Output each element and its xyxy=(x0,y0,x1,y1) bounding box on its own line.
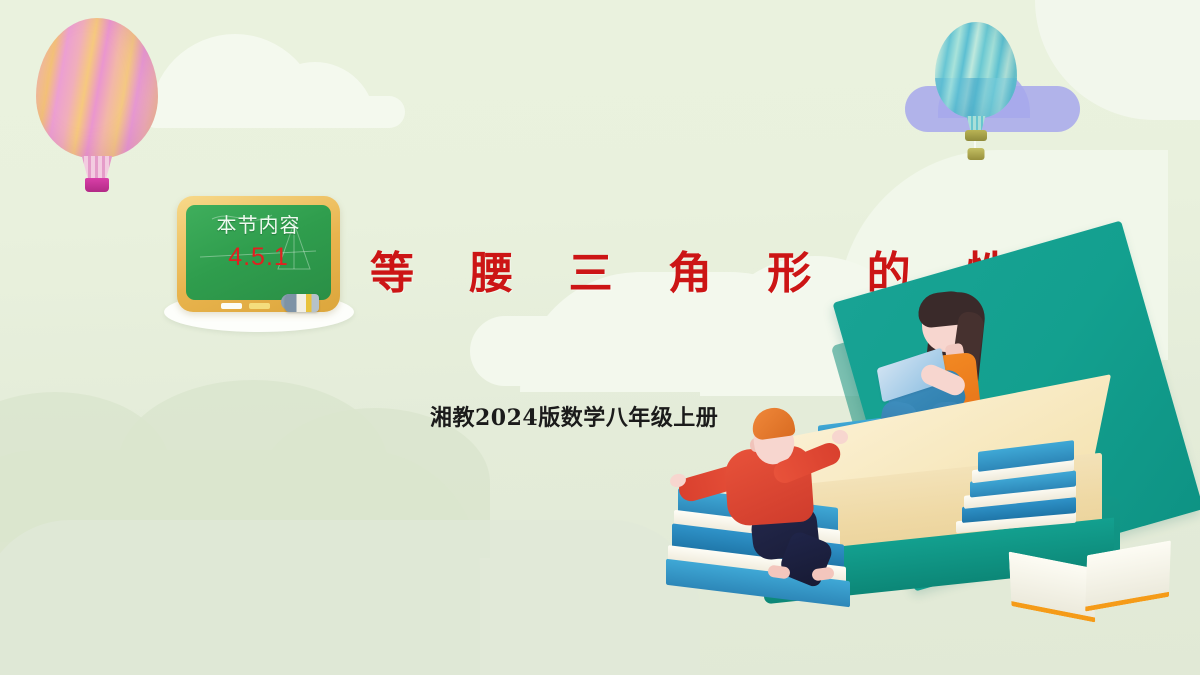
yellow-chalk-icon xyxy=(249,303,270,309)
teal-hot-air-balloon-icon xyxy=(935,22,1017,118)
balloon-basket-lower xyxy=(968,148,985,160)
balloon-envelope xyxy=(935,22,1017,118)
man-right-hand xyxy=(832,430,848,444)
open-book-right-page xyxy=(1085,540,1171,611)
cloud-top-left-c xyxy=(140,96,405,128)
balloon-lower-band xyxy=(935,78,1017,118)
blackboard-surface: 本节内容 4.5.1 xyxy=(186,205,331,300)
man-left-foot xyxy=(767,565,790,580)
hill-lower-left-e xyxy=(0,520,700,675)
students-reading-illustration xyxy=(660,240,1200,675)
pink-orange-hot-air-balloon-icon xyxy=(36,18,158,158)
balloon-basket xyxy=(85,178,109,192)
man-right-foot xyxy=(811,567,834,582)
blackboard-frame: 本节内容 4.5.1 xyxy=(177,196,340,312)
man-hair xyxy=(750,405,796,441)
open-book-left-page xyxy=(1009,551,1096,622)
blackboard-group: 本节内容 4.5.1 xyxy=(164,196,354,336)
balloon-basket xyxy=(965,130,987,141)
open-orange-book xyxy=(1010,546,1170,622)
blackboard-heading: 本节内容 xyxy=(186,215,331,235)
eraser-icon xyxy=(285,294,319,312)
white-chalk-icon xyxy=(221,303,242,309)
blackboard-section-number: 4.5.1 xyxy=(186,245,331,270)
man-sitting-figure xyxy=(700,408,860,584)
balloon-envelope xyxy=(36,18,158,158)
slide-root: 本节内容 4.5.1 等 腰 三 角 形 的 性 质 湘教2024版数学八年级上… xyxy=(0,0,1200,675)
